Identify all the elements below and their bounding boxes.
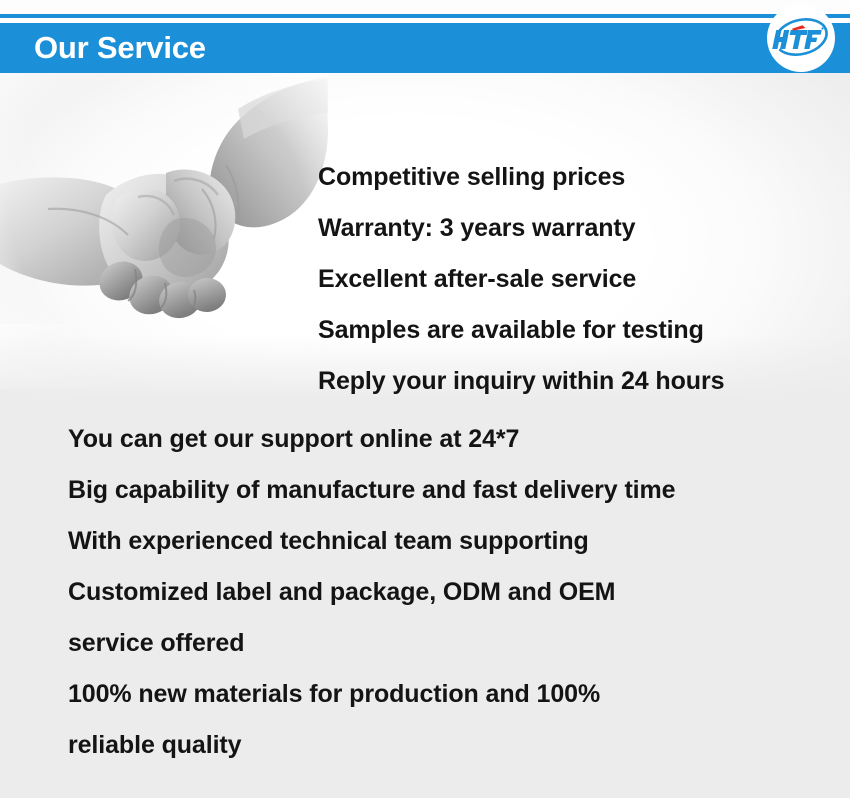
list-item: reliable quality	[68, 720, 675, 771]
list-item: 100% new materials for production and 10…	[68, 669, 675, 720]
our-service-banner: Our Service	[0, 0, 850, 798]
list-item: Competitive selling prices	[318, 152, 724, 203]
list-item: Warranty: 3 years warranty	[318, 203, 724, 254]
list-item: With experienced technical team supporti…	[68, 516, 675, 567]
list-item: Big capability of manufacture and fast d…	[68, 465, 675, 516]
page-title: Our Service	[34, 27, 206, 69]
list-item: You can get our support online at 24*7	[68, 414, 675, 465]
list-item: Reply your inquiry within 24 hours	[318, 356, 724, 407]
service-highlights-list: Competitive selling prices Warranty: 3 y…	[318, 152, 724, 407]
list-item: Samples are available for testing	[318, 305, 724, 356]
htf-logo	[766, 3, 836, 73]
list-item: Customized label and package, ODM and OE…	[68, 567, 675, 618]
top-white-strip	[0, 0, 850, 14]
list-item: Excellent after-sale service	[318, 254, 724, 305]
service-details-list: You can get our support online at 24*7 B…	[68, 414, 675, 771]
list-item: service offered	[68, 618, 675, 669]
